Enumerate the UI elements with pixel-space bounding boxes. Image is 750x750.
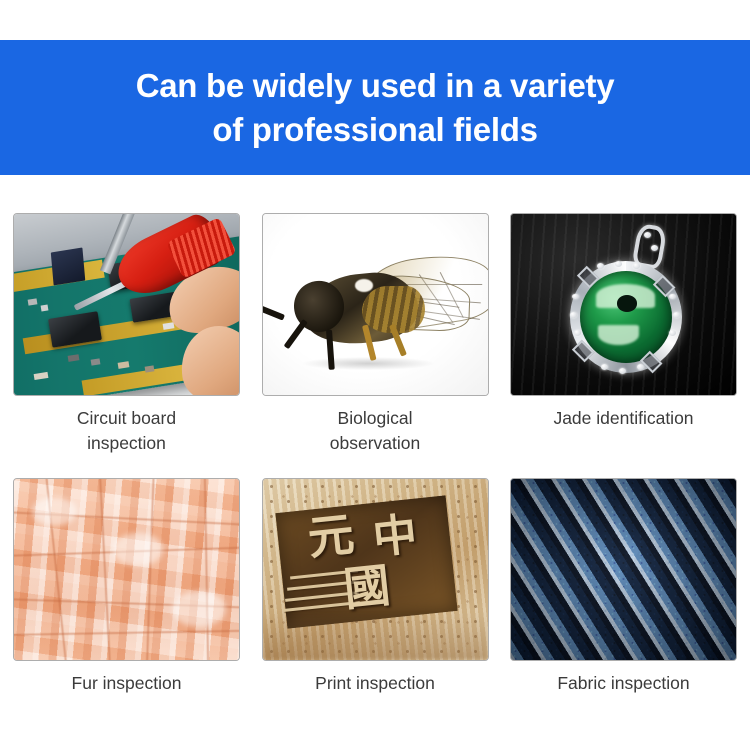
caption-circuit-board: Circuit board inspection [13,406,240,456]
feature-row-top: Circuit board inspection [13,213,737,456]
jade-center-hole [617,295,637,311]
caption-fur: Fur inspection [13,671,240,696]
feature-grid: Circuit board inspection [13,213,737,696]
feature-row-bottom: Fur inspection 元 中 國 [13,478,737,696]
magnified-skin-texture-photo [14,479,239,660]
drop-shadow [303,357,434,370]
insect-leg [263,305,286,321]
fabric-thumbnail[interactable] [510,478,737,661]
caption-print: Print inspection [262,671,489,696]
engraved-wood-stamp-photo: 元 中 國 [263,479,488,660]
diamond [574,330,581,336]
feature-card-jade[interactable]: Jade identification [510,213,737,456]
header-banner: Can be widely used in a variety of profe… [0,40,750,175]
jade-thumbnail[interactable] [510,213,737,396]
engraved-character: 中 [371,513,419,561]
insect-leg [284,319,308,349]
feature-card-fur[interactable]: Fur inspection [13,478,240,696]
print-thumbnail[interactable]: 元 中 國 [262,478,489,661]
diamond [633,263,640,269]
cicada-thumbnail[interactable] [262,213,489,396]
diamond [669,294,676,300]
pcb-component [41,304,49,311]
diamond [615,261,622,267]
feature-card-print[interactable]: 元 中 國 Print inspection [262,478,489,696]
feature-card-fabric[interactable]: Fabric inspection [510,478,737,696]
circuit-board-thumbnail[interactable] [13,213,240,396]
diamond [570,312,577,318]
circuit-board-probe-photo [14,214,239,395]
feature-card-circuit-board[interactable]: Circuit board inspection [13,213,240,456]
feature-card-biological[interactable]: Biological observation [262,213,489,456]
diamond [651,245,658,251]
caption-biological: Biological observation [262,406,489,456]
vignette [511,479,736,660]
diamond [673,312,680,318]
pcb-connector [51,248,85,285]
depth-of-field-blur [263,613,488,660]
denim-weave-texture-photo [511,479,736,660]
diamond [644,232,651,238]
caption-fabric: Fabric inspection [510,671,737,696]
jade-marking [598,325,639,345]
engraved-character: 元 [305,511,356,562]
jade-pendant-photo [511,214,736,395]
pcb-component [90,358,100,365]
body-highlight [355,279,373,292]
fur-thumbnail[interactable] [13,478,240,661]
banner-title: Can be widely used in a variety of profe… [96,64,655,152]
cicada-insect-photo [263,214,488,395]
caption-jade: Jade identification [510,406,737,431]
diamond [597,263,604,269]
engraved-character: 國 [341,561,392,612]
diamond [669,330,676,336]
product-feature-page: Can be widely used in a variety of profe… [0,0,750,750]
diamond [619,368,626,374]
